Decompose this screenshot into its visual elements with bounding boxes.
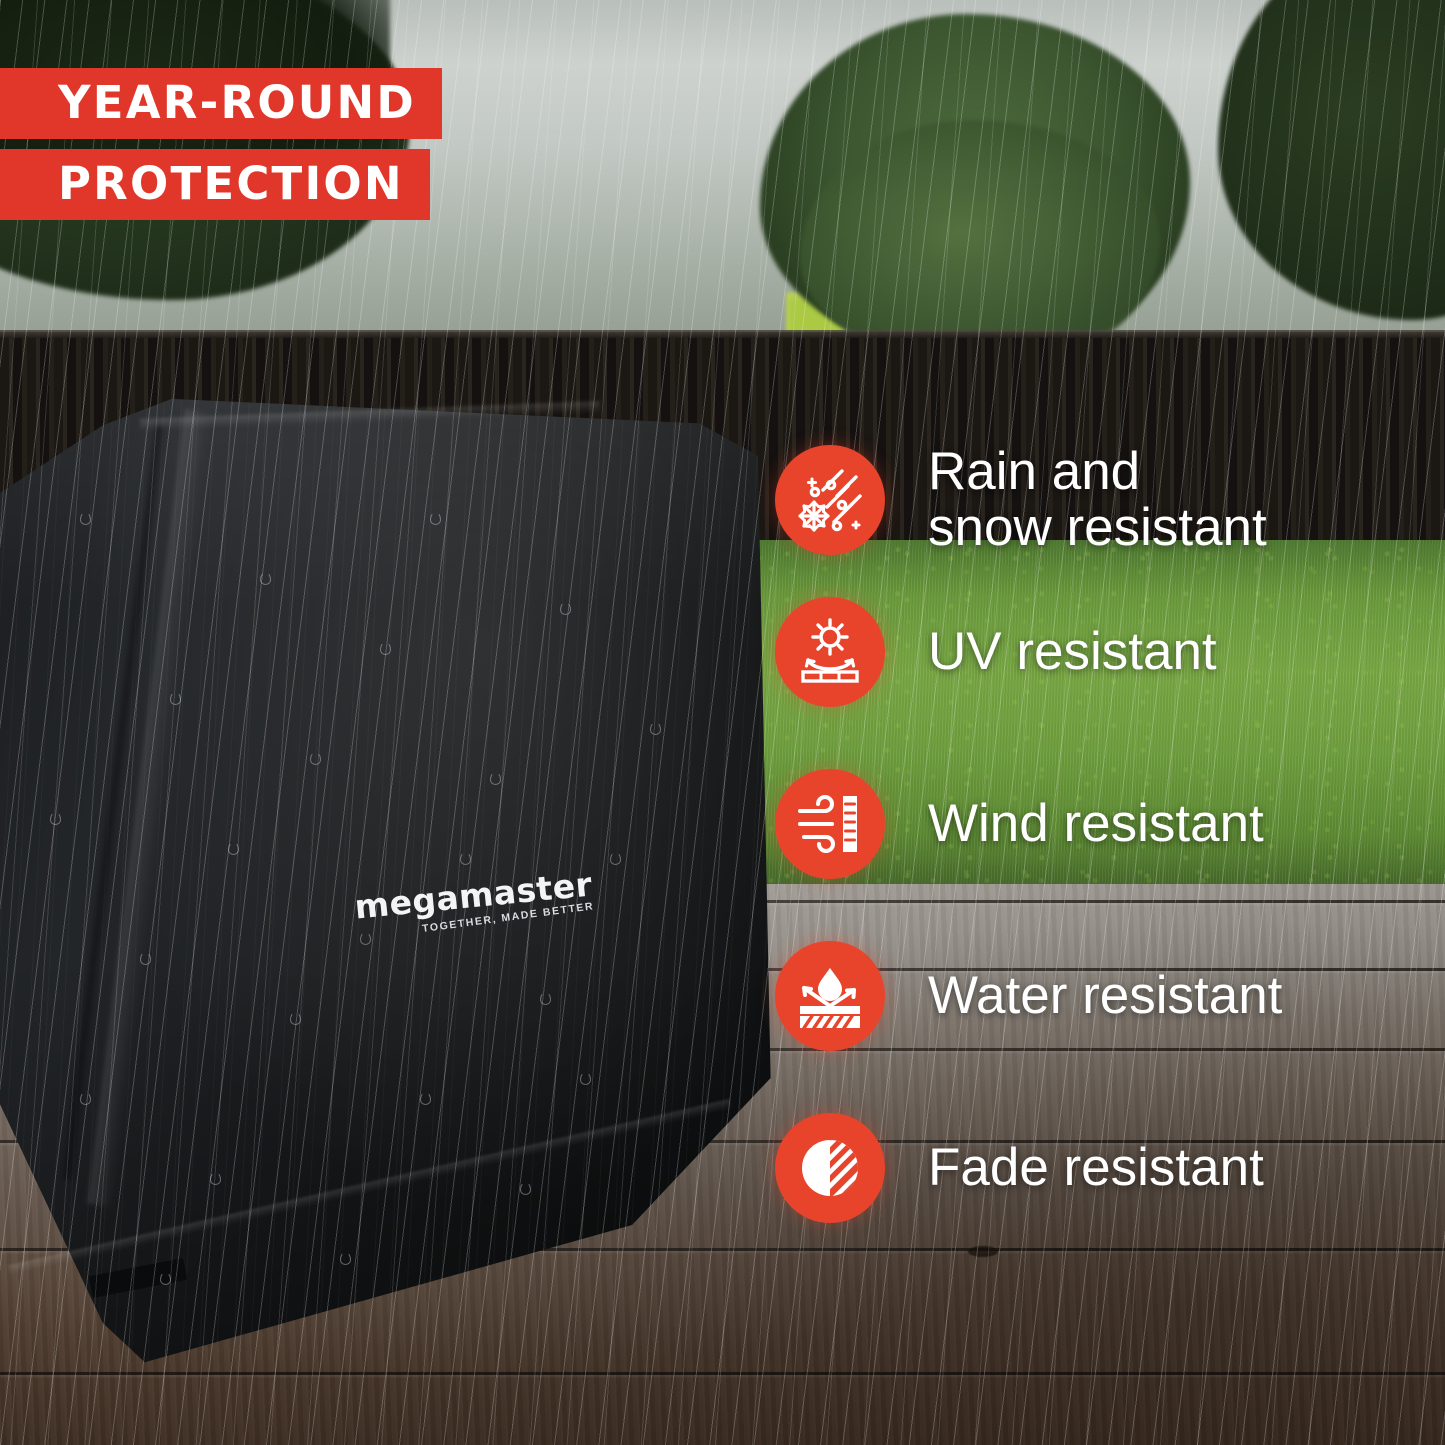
fade-icon <box>775 1113 885 1223</box>
feature-item-fade: Fade resistant <box>775 1113 1282 1223</box>
feature-label-water: Water resistant <box>928 968 1282 1024</box>
feature-label-fade: Fade resistant <box>928 1140 1264 1196</box>
uv-sun-icon <box>775 597 885 707</box>
feature-item-water: Water resistant <box>775 941 1282 1051</box>
fence-top-rail <box>0 330 1445 338</box>
product-feature-image: megamaster TOGETHER, MADE BETTER YEAR-RO… <box>0 0 1445 1445</box>
grill-cover: megamaster TOGETHER, MADE BETTER <box>0 392 800 1372</box>
feature-list: Rain and snow resistant <box>775 425 1282 1285</box>
headline-line-1: YEAR-ROUND <box>0 68 442 139</box>
water-drop-icon <box>775 941 885 1051</box>
wind-icon <box>775 769 885 879</box>
feature-label-uv: UV resistant <box>928 624 1217 680</box>
water-beads <box>0 392 800 1372</box>
rain-snow-icon <box>775 445 885 555</box>
feature-label-wind: Wind resistant <box>928 796 1264 852</box>
feature-item-wind: Wind resistant <box>775 769 1282 879</box>
feature-item-uv: UV resistant <box>775 597 1282 707</box>
headline-line-2: PROTECTION <box>0 149 430 220</box>
feature-item-rain-snow: Rain and snow resistant <box>775 425 1282 575</box>
headline-banner: YEAR-ROUND PROTECTION <box>0 68 442 220</box>
feature-label-rain-snow: Rain and snow resistant <box>928 444 1267 556</box>
